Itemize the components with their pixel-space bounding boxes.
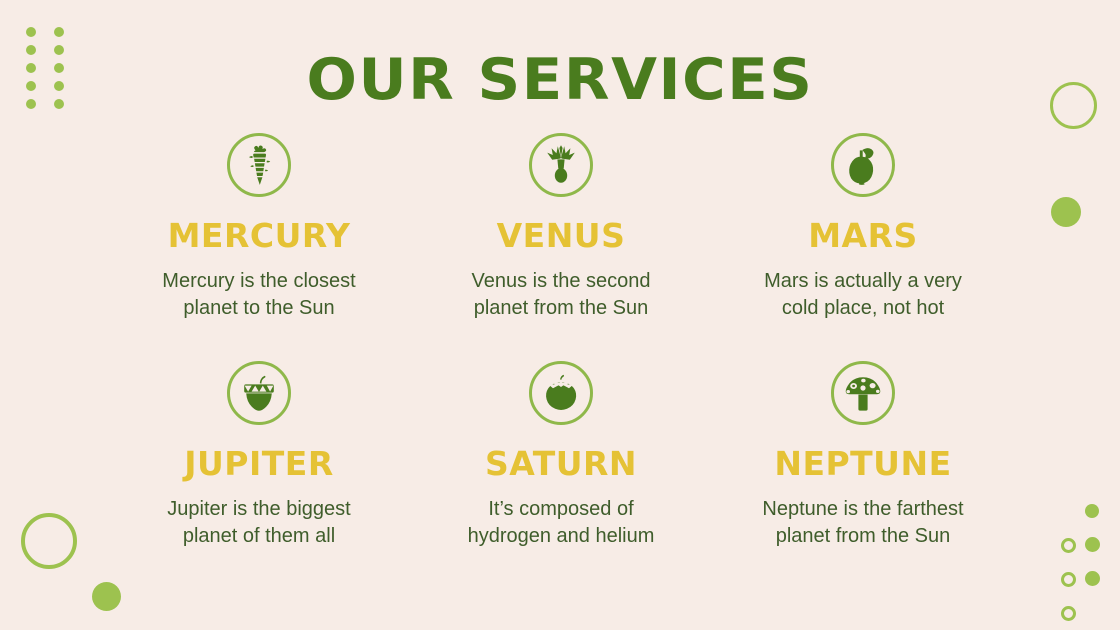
service-description-line1: Neptune is the farthest xyxy=(762,496,963,523)
decor-ring-bottom-left xyxy=(21,513,77,569)
service-description-line2: cold place, not hot xyxy=(764,295,962,322)
decor-ring xyxy=(1061,606,1076,621)
service-description: Neptune is the farthest planet from the … xyxy=(762,496,963,550)
service-description: Venus is the second planet from the Sun xyxy=(471,268,650,322)
service-card-neptune[interactable]: NEPTUNE Neptune is the farthest planet f… xyxy=(712,361,1014,589)
avocado-icon xyxy=(843,144,883,186)
decor-cluster-bottom-right xyxy=(1066,500,1120,630)
tomato-icon xyxy=(541,373,581,413)
service-card-mercury[interactable]: MERCURY Mercury is the closest planet to… xyxy=(108,133,410,361)
icon-ring xyxy=(227,133,291,197)
acorn-icon xyxy=(239,373,279,413)
service-description-line1: It’s composed of xyxy=(468,496,655,523)
service-description-line1: Venus is the second xyxy=(471,268,650,295)
services-grid: MERCURY Mercury is the closest planet to… xyxy=(108,133,1014,589)
icon-ring xyxy=(831,361,895,425)
service-title: MERCURY xyxy=(168,219,351,252)
leek-icon xyxy=(543,144,579,186)
service-description: Mars is actually a very cold place, not … xyxy=(764,268,962,322)
service-title: JUPITER xyxy=(184,447,334,480)
service-description-line2: hydrogen and helium xyxy=(468,523,655,550)
decor-dot-top-right xyxy=(1051,197,1081,227)
decor-dot xyxy=(54,27,64,37)
mushroom-icon xyxy=(842,373,884,413)
service-title: VENUS xyxy=(497,219,626,252)
service-card-mars[interactable]: MARS Mars is actually a very cold place,… xyxy=(712,133,1014,361)
service-description-line2: planet to the Sun xyxy=(162,295,355,322)
icon-ring xyxy=(529,361,593,425)
icon-ring xyxy=(227,361,291,425)
decor-dot xyxy=(1085,504,1099,518)
carrot-icon xyxy=(242,144,276,186)
service-description-line2: planet from the Sun xyxy=(471,295,650,322)
decor-dot xyxy=(1085,571,1100,586)
service-card-venus[interactable]: VENUS Venus is the second planet from th… xyxy=(410,133,712,361)
service-description: It’s composed of hydrogen and helium xyxy=(468,496,655,550)
icon-ring xyxy=(529,133,593,197)
service-description-line2: planet of them all xyxy=(167,523,350,550)
page-title: OUR SERVICES xyxy=(0,52,1120,109)
service-title: SATURN xyxy=(485,447,637,480)
decor-ring xyxy=(1061,538,1076,553)
service-card-saturn[interactable]: SATURN It’s composed of hydrogen and hel… xyxy=(410,361,712,589)
service-title: MARS xyxy=(808,219,918,252)
slide-canvas: OUR SERVICES xyxy=(0,0,1120,630)
decor-dot xyxy=(1085,537,1100,552)
service-description-line1: Jupiter is the biggest xyxy=(167,496,350,523)
service-description-line1: Mercury is the closest xyxy=(162,268,355,295)
decor-dot xyxy=(26,27,36,37)
icon-ring xyxy=(831,133,895,197)
service-description: Mercury is the closest planet to the Sun xyxy=(162,268,355,322)
service-title: NEPTUNE xyxy=(774,447,951,480)
service-description-line2: planet from the Sun xyxy=(762,523,963,550)
decor-ring xyxy=(1061,572,1076,587)
service-card-jupiter[interactable]: JUPITER Jupiter is the biggest planet of… xyxy=(108,361,410,589)
service-description: Jupiter is the biggest planet of them al… xyxy=(167,496,350,550)
service-description-line1: Mars is actually a very xyxy=(764,268,962,295)
